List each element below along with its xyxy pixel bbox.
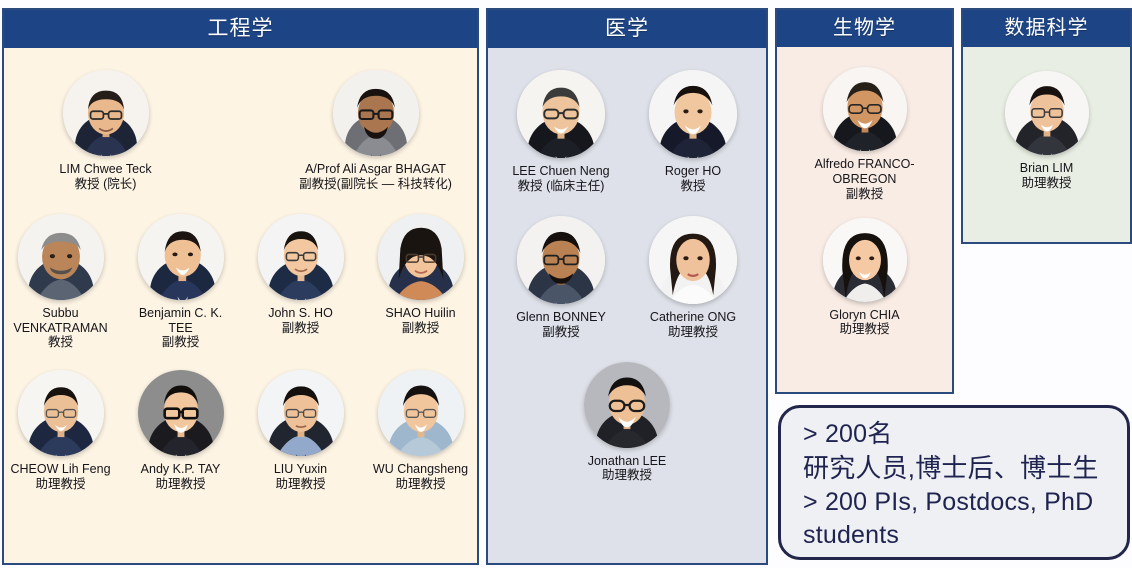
panel-title-biology: 生物学 <box>777 10 952 47</box>
avatar <box>584 362 670 448</box>
avatar <box>1005 71 1089 155</box>
person-card[interactable]: WU Changsheng 助理教授 <box>365 370 477 492</box>
person-name: Benjamin C. K. TEE <box>125 306 237 336</box>
avatar <box>18 214 104 300</box>
avatar <box>18 370 104 456</box>
person-card[interactable]: Glenn BONNEY 副教授 <box>506 216 616 340</box>
person-title: 副教授 <box>790 187 940 202</box>
avatar <box>63 70 149 156</box>
person-name: WU Changsheng <box>365 462 477 477</box>
stats-line-1: > 200名 <box>803 418 1127 451</box>
person-name: LEE Chuen Neng <box>506 164 616 179</box>
panel-biology: 生物学 <box>775 8 954 394</box>
panel-title-datascience: 数据科学 <box>963 10 1130 47</box>
person-title: 助理教授 <box>5 477 117 492</box>
person-card[interactable]: LIM Chwee Teck 教授 (院长) <box>11 70 201 192</box>
person-card[interactable]: Andy K.P. TAY 助理教授 <box>125 370 237 492</box>
person-row: Subbu VENKATRAMAN 教授 <box>4 214 477 351</box>
person-title: 助理教授 <box>365 477 477 492</box>
person-name: Gloryn CHIA <box>790 308 940 323</box>
person-card[interactable]: Jonathan LEE 助理教授 <box>562 362 692 484</box>
person-title: 副教授(副院长 — 科技转化) <box>281 177 471 192</box>
person-card[interactable]: LIU Yuxin 助理教授 <box>245 370 357 492</box>
person-card[interactable]: Roger HO 教授 <box>638 70 748 194</box>
person-title: 副教授 <box>245 321 357 336</box>
person-card[interactable]: Gloryn CHIA 助理教授 <box>790 218 940 338</box>
avatar <box>649 70 737 158</box>
stats-line-4: students <box>803 519 1127 552</box>
person-title: 副教授 <box>125 335 237 350</box>
person-row: Brian LIM 助理教授 <box>963 71 1130 191</box>
person-card[interactable]: John S. HO 副教授 <box>245 214 357 336</box>
person-card[interactable]: Benjamin C. K. TEE 副教授 <box>125 214 237 351</box>
panel-body-datascience: Brian LIM 助理教授 <box>963 47 1130 242</box>
person-card[interactable]: Subbu VENKATRAMAN 教授 <box>5 214 117 351</box>
person-name: LIM Chwee Teck <box>11 162 201 177</box>
panel-medicine: 医学 <box>486 8 768 565</box>
person-card[interactable]: Alfredo FRANCO- OBREGON 副教授 <box>790 67 940 202</box>
avatar <box>378 214 464 300</box>
person-title: 助理教授 <box>562 468 692 483</box>
faculty-board: 工程学 <box>0 0 1132 568</box>
person-name: Roger HO <box>638 164 748 179</box>
person-name: Andy K.P. TAY <box>125 462 237 477</box>
person-name: Subbu VENKATRAMAN <box>5 306 117 336</box>
avatar <box>517 70 605 158</box>
person-name: John S. HO <box>245 306 357 321</box>
person-card[interactable]: SHAO Huilin 副教授 <box>365 214 477 336</box>
person-title: 助理教授 <box>245 477 357 492</box>
avatar <box>378 370 464 456</box>
person-name: Brian LIM <box>972 161 1122 176</box>
person-title: 教授 <box>5 335 117 350</box>
person-title: 教授 <box>638 179 748 194</box>
person-card[interactable]: LEE Chuen Neng 教授 (临床主任) <box>506 70 616 194</box>
person-row: Glenn BONNEY 副教授 <box>488 216 766 340</box>
panel-datascience: 数据科学 <box>961 8 1132 244</box>
person-card[interactable]: CHEOW Lih Feng 助理教授 <box>5 370 117 492</box>
stats-line-2: 研究人员,博士后、博士生 <box>803 451 1127 486</box>
person-title: 助理教授 <box>638 325 748 340</box>
panel-body-medicine: LEE Chuen Neng 教授 (临床主任) <box>488 48 766 563</box>
person-name: SHAO Huilin <box>365 306 477 321</box>
person-card[interactable]: Brian LIM 助理教授 <box>972 71 1122 191</box>
person-title: 助理教授 <box>125 477 237 492</box>
avatar <box>138 370 224 456</box>
avatar <box>138 214 224 300</box>
person-row: LEE Chuen Neng 教授 (临床主任) <box>488 70 766 194</box>
panel-body-biology: Alfredo FRANCO- OBREGON 副教授 <box>777 47 952 392</box>
person-row: Alfredo FRANCO- OBREGON 副教授 <box>777 67 952 202</box>
person-title: 教授 (院长) <box>11 177 201 192</box>
person-name: Jonathan LEE <box>562 454 692 469</box>
panel-engineering: 工程学 <box>2 8 479 565</box>
panel-title-medicine: 医学 <box>488 10 766 48</box>
person-name: Catherine ONG <box>638 310 748 325</box>
stats-line-3: > 200 PIs, Postdocs, PhD <box>803 486 1127 519</box>
person-row: CHEOW Lih Feng 助理教授 <box>4 370 477 492</box>
stats-callout: > 200名 研究人员,博士后、博士生 > 200 PIs, Postdocs,… <box>778 405 1130 560</box>
avatar <box>258 214 344 300</box>
avatar <box>517 216 605 304</box>
person-name: Alfredo FRANCO- OBREGON <box>790 157 940 187</box>
panel-body-engineering: LIM Chwee Teck 教授 (院长) <box>4 48 477 563</box>
person-title: 副教授 <box>365 321 477 336</box>
avatar <box>333 70 419 156</box>
avatar <box>823 67 907 151</box>
person-title: 助理教授 <box>790 322 940 337</box>
panel-title-engineering: 工程学 <box>4 10 477 48</box>
person-card[interactable]: Catherine ONG 助理教授 <box>638 216 748 340</box>
person-title: 副教授 <box>506 325 616 340</box>
person-card[interactable]: A/Prof Ali Asgar BHAGAT 副教授(副院长 — 科技转化) <box>281 70 471 192</box>
person-row: Jonathan LEE 助理教授 <box>488 362 766 484</box>
person-name: CHEOW Lih Feng <box>5 462 117 477</box>
person-name: Glenn BONNEY <box>506 310 616 325</box>
person-name: LIU Yuxin <box>245 462 357 477</box>
avatar <box>823 218 907 302</box>
avatar <box>258 370 344 456</box>
person-title: 助理教授 <box>972 176 1122 191</box>
person-name: A/Prof Ali Asgar BHAGAT <box>281 162 471 177</box>
avatar <box>649 216 737 304</box>
person-title: 教授 (临床主任) <box>506 179 616 194</box>
person-row: Gloryn CHIA 助理教授 <box>777 218 952 338</box>
person-row: LIM Chwee Teck 教授 (院长) <box>4 70 477 192</box>
